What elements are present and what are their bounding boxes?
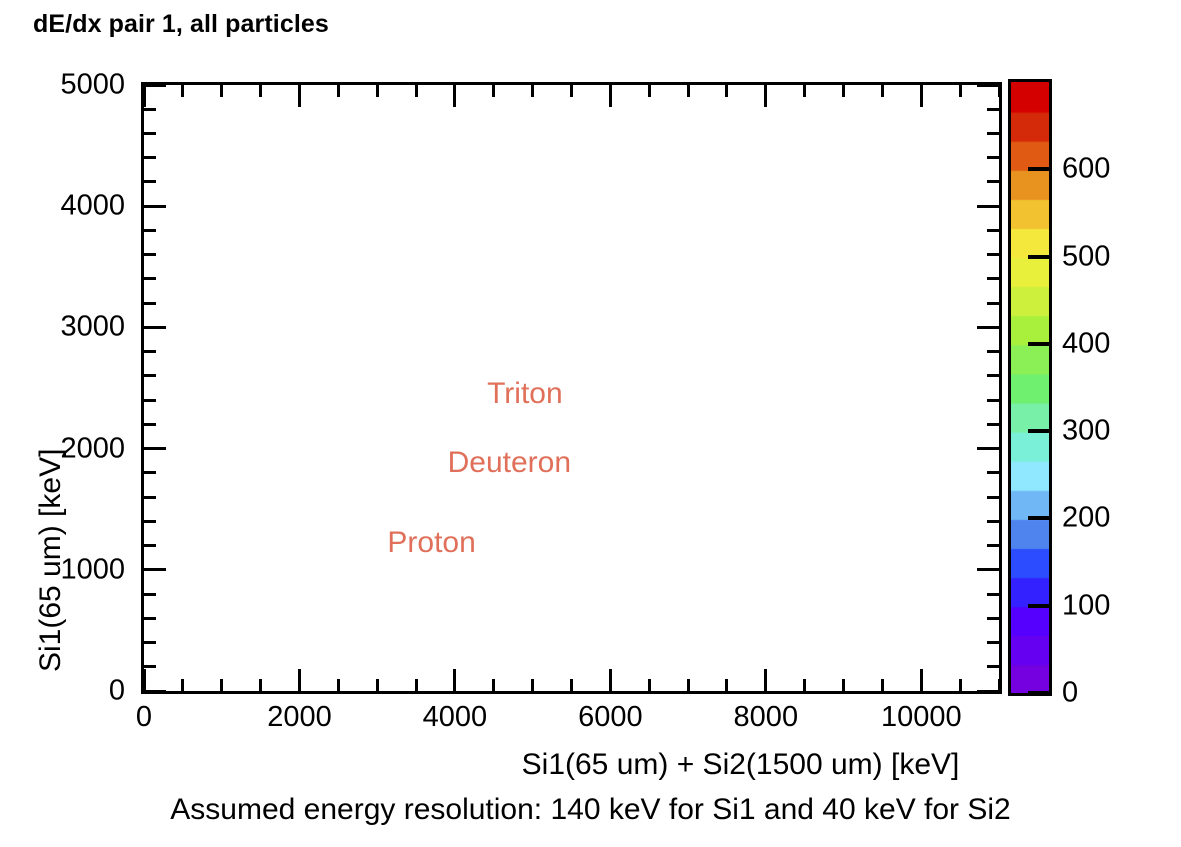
y-axis-major-tick [144, 326, 166, 329]
y-axis-major-tick [977, 568, 999, 571]
x-axis-minor-tick [570, 679, 573, 691]
colorbar-tick-label: 300 [1062, 415, 1110, 448]
y-axis-minor-tick [144, 350, 156, 353]
y-axis-tick-label: 5000 [0, 69, 125, 102]
x-axis-title: Si1(65 um) + Si2(1500 um) [keV] [522, 748, 960, 782]
y-axis-minor-tick [144, 156, 156, 159]
x-axis-minor-tick [337, 679, 340, 691]
y-axis-minor-tick [987, 156, 999, 159]
y-axis-minor-tick [144, 617, 156, 620]
y-axis-minor-tick [987, 520, 999, 523]
x-axis-major-tick [143, 85, 146, 107]
colorbar-tick-label: 500 [1062, 240, 1110, 273]
x-axis-major-tick [453, 669, 456, 691]
figure-caption: Assumed energy resolution: 140 keV for S… [170, 793, 1010, 827]
y-axis-minor-tick [144, 641, 156, 644]
y-axis-minor-tick [987, 617, 999, 620]
x-axis-minor-tick [648, 85, 651, 97]
x-axis-major-tick [609, 669, 612, 691]
y-axis-tick-label: 4000 [0, 190, 125, 223]
y-axis-minor-tick [987, 374, 999, 377]
colorbar-tick [1028, 516, 1052, 520]
colorbar-tick-label: 400 [1062, 327, 1110, 360]
y-axis-minor-tick [144, 471, 156, 474]
y-axis-minor-tick [987, 544, 999, 547]
y-axis-minor-tick [144, 108, 156, 111]
x-axis-tick-label: 10000 [881, 701, 962, 734]
y-axis-major-tick [977, 690, 999, 693]
y-axis-minor-tick [144, 423, 156, 426]
y-axis-major-tick [977, 326, 999, 329]
y-axis-minor-tick [987, 399, 999, 402]
x-axis-minor-tick [570, 85, 573, 97]
y-axis-minor-tick [144, 593, 156, 596]
colorbar-tick [1028, 691, 1052, 695]
y-axis-major-tick [977, 447, 999, 450]
x-axis-major-tick [143, 669, 146, 691]
x-axis-minor-tick [181, 679, 184, 691]
x-axis-minor-tick [881, 85, 884, 97]
y-axis-minor-tick [987, 132, 999, 135]
y-axis-minor-tick [987, 229, 999, 232]
y-axis-minor-tick [987, 471, 999, 474]
x-axis-minor-tick [531, 85, 534, 97]
x-axis-minor-tick [415, 679, 418, 691]
x-axis-major-tick [764, 669, 767, 691]
y-axis-minor-tick [987, 180, 999, 183]
x-axis-minor-tick [259, 679, 262, 691]
y-axis-major-tick [144, 205, 166, 208]
root-canvas-pad: dE/dx pair 1, all particles 010002000300… [0, 0, 1181, 847]
y-axis-minor-tick [987, 641, 999, 644]
x-axis-tick-label: 0 [136, 701, 152, 734]
y-axis-minor-tick [144, 520, 156, 523]
colorbar-tick-label: 600 [1062, 153, 1110, 186]
y-axis-minor-tick [987, 108, 999, 111]
y-axis-minor-tick [144, 253, 156, 256]
y-axis-major-tick [144, 84, 166, 87]
y-axis-major-tick [144, 447, 166, 450]
x-axis-minor-tick [181, 85, 184, 97]
x-axis-minor-tick [531, 679, 534, 691]
y-axis-minor-tick [144, 277, 156, 280]
x-axis-minor-tick [687, 85, 690, 97]
x-axis-minor-tick [842, 85, 845, 97]
x-axis-tick-label: 2000 [267, 701, 332, 734]
y-axis-minor-tick [987, 277, 999, 280]
colorbar-tick [1028, 167, 1052, 171]
x-axis-minor-tick [492, 85, 495, 97]
colorbar-tick [1028, 429, 1052, 433]
x-axis-minor-tick [687, 679, 690, 691]
x-axis-minor-tick [376, 679, 379, 691]
y-axis-tick-label: 3000 [0, 311, 125, 344]
y-axis-major-tick [144, 568, 166, 571]
x-axis-minor-tick [220, 85, 223, 97]
x-axis-minor-tick [492, 679, 495, 691]
x-axis-minor-tick [959, 85, 962, 97]
x-axis-major-tick [453, 85, 456, 107]
y-axis-minor-tick [987, 496, 999, 499]
y-axis-minor-tick [144, 665, 156, 668]
colorbar-tick-label: 100 [1062, 589, 1110, 622]
colorbar-tick [1028, 255, 1052, 259]
y-axis-minor-tick [987, 302, 999, 305]
x-axis-minor-tick [803, 679, 806, 691]
x-axis-minor-tick [648, 679, 651, 691]
colorbar-tick [1028, 342, 1052, 346]
plot-frame [141, 82, 1002, 694]
x-axis-tick-label: 6000 [578, 701, 643, 734]
x-axis-minor-tick [259, 85, 262, 97]
x-axis-tick-label: 4000 [423, 701, 488, 734]
y-axis-major-tick [977, 84, 999, 87]
x-axis-minor-tick [998, 85, 1001, 97]
y-axis-minor-tick [987, 423, 999, 426]
page-title: dE/dx pair 1, all particles [33, 10, 329, 39]
y-axis-minor-tick [144, 180, 156, 183]
x-axis-minor-tick [881, 679, 884, 691]
y-axis-minor-tick [144, 496, 156, 499]
y-axis-major-tick [977, 205, 999, 208]
colorbar-tick [1028, 604, 1052, 608]
x-axis-major-tick [609, 85, 612, 107]
x-axis-minor-tick [220, 679, 223, 691]
x-axis-major-tick [764, 85, 767, 107]
colorbar-tick-label: 0 [1062, 677, 1078, 710]
x-axis-minor-tick [998, 679, 1001, 691]
x-axis-major-tick [920, 85, 923, 107]
y-axis-minor-tick [144, 229, 156, 232]
x-axis-minor-tick [376, 85, 379, 97]
x-axis-minor-tick [842, 679, 845, 691]
y-axis-title: Si1(65 um) [keV] [34, 449, 68, 672]
x-axis-minor-tick [415, 85, 418, 97]
x-axis-major-tick [920, 669, 923, 691]
y-axis-minor-tick [144, 544, 156, 547]
y-axis-minor-tick [987, 665, 999, 668]
x-axis-minor-tick [725, 679, 728, 691]
y-axis-minor-tick [144, 399, 156, 402]
colorbar-tick-label: 200 [1062, 502, 1110, 535]
y-axis-minor-tick [987, 593, 999, 596]
y-axis-minor-tick [987, 253, 999, 256]
x-axis-major-tick [298, 669, 301, 691]
x-axis-minor-tick [337, 85, 340, 97]
x-axis-major-tick [298, 85, 301, 107]
y-axis-major-tick [144, 690, 166, 693]
y-axis-minor-tick [144, 302, 156, 305]
y-axis-minor-tick [987, 350, 999, 353]
x-axis-minor-tick [803, 85, 806, 97]
y-axis-minor-tick [144, 374, 156, 377]
y-axis-tick-label: 0 [0, 675, 125, 708]
x-axis-minor-tick [725, 85, 728, 97]
x-axis-minor-tick [959, 679, 962, 691]
y-axis-minor-tick [144, 132, 156, 135]
x-axis-tick-label: 8000 [734, 701, 799, 734]
